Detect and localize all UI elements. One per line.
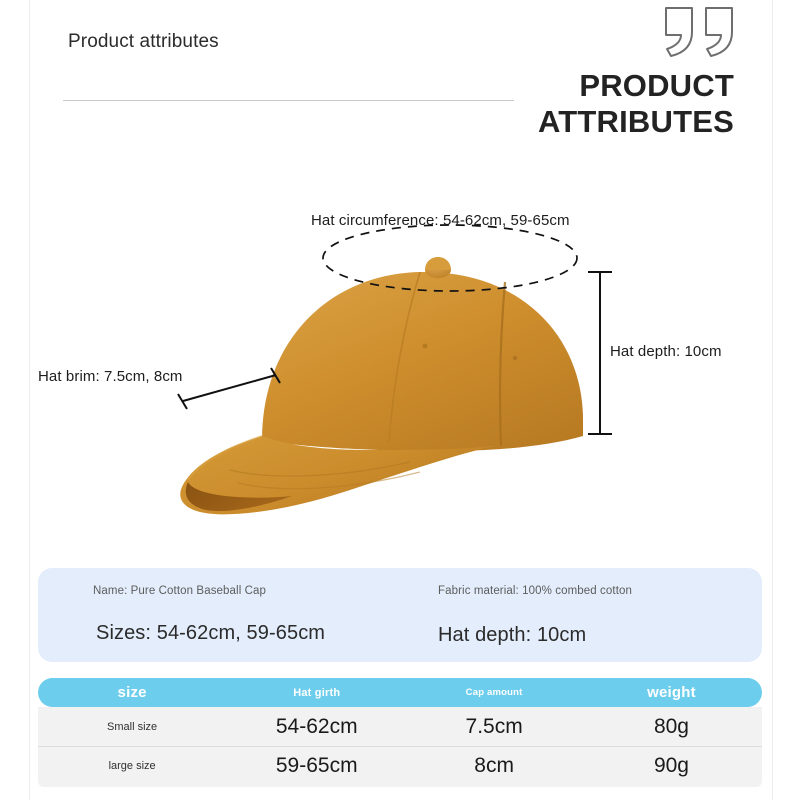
cell-weight: 90g (581, 754, 762, 778)
table-body: Small size 54-62cm 7.5cm 80g large size … (38, 707, 762, 787)
cell-cap-amount: 8cm (407, 754, 581, 778)
header-subtitle: Product attributes (68, 31, 219, 53)
table-header-row: size Hat girth Cap amount weight (38, 678, 762, 707)
info-fabric-material: Fabric material: 100% combed cotton (438, 585, 632, 597)
product-diagram: Hat circumference: 54-62cm, 59-65cm Hat … (0, 150, 800, 550)
label-hat-brim: Hat brim: 7.5cm, 8cm (38, 368, 183, 385)
cell-hat-girth: 59-65cm (226, 754, 407, 778)
cell-size: large size (38, 760, 226, 772)
page-header: Product attributes PRODUCT ATTRIBUTES (0, 0, 800, 150)
page-title-line-2: ATTRIBUTES (314, 104, 734, 140)
page-title-line-1: PRODUCT (314, 68, 734, 104)
label-hat-depth: Hat depth: 10cm (610, 343, 722, 360)
cell-hat-girth: 54-62cm (226, 715, 407, 739)
info-sizes: Sizes: 54-62cm, 59-65cm (96, 622, 325, 645)
table-row: large size 59-65cm 8cm 90g (38, 746, 762, 785)
info-product-name: Name: Pure Cotton Baseball Cap (93, 585, 266, 597)
column-header-hat-girth: Hat girth (226, 687, 407, 699)
cell-weight: 80g (581, 715, 762, 739)
page-title: PRODUCT ATTRIBUTES (314, 68, 734, 141)
quote-mark-icon (662, 6, 738, 58)
spec-table: size Hat girth Cap amount weight Small s… (38, 678, 762, 787)
column-header-weight: weight (581, 684, 762, 701)
product-info-panel: Name: Pure Cotton Baseball Cap Fabric ma… (38, 568, 762, 662)
depth-measure-line (588, 272, 612, 434)
brim-measure-line (178, 368, 280, 409)
label-hat-circumference: Hat circumference: 54-62cm, 59-65cm (311, 212, 570, 229)
column-header-cap-amount: Cap amount (407, 687, 581, 698)
column-header-size: size (38, 684, 226, 701)
cell-cap-amount: 7.5cm (407, 715, 581, 739)
cell-size: Small size (38, 721, 226, 733)
table-row: Small size 54-62cm 7.5cm 80g (38, 707, 762, 746)
info-hat-depth: Hat depth: 10cm (438, 624, 586, 647)
